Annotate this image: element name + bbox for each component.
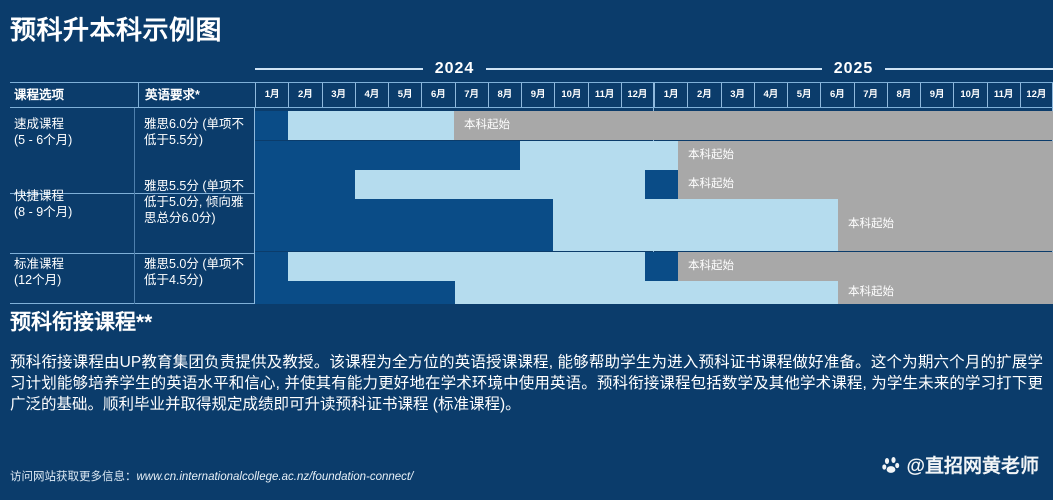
footnote-prefix: 访问网站获取更多信息： xyxy=(10,471,137,483)
row-label-course-3: 标准课程 (12个月) xyxy=(14,256,132,288)
gantt-segment-grey xyxy=(678,141,1053,170)
gantt-segment-dark xyxy=(255,170,355,199)
gantt-segment-dark xyxy=(645,170,678,199)
gantt-segment-light xyxy=(553,199,838,251)
gantt-segment-light xyxy=(520,141,678,170)
gantt-segment-dark xyxy=(255,199,553,251)
timeline-table: 课程选项 英语要求* 1月2月3月4月5月6月7月8月9月10月11月12月1月… xyxy=(10,82,1053,304)
page-title: 预科升本科示例图 xyxy=(10,10,222,47)
baidu-paw-icon xyxy=(882,455,902,475)
gantt-segment-label: 本科起始 xyxy=(464,120,510,132)
column-header-course: 课程选项 xyxy=(14,83,134,107)
gantt-segment-light xyxy=(288,252,645,281)
course-duration: (8 - 9个月) xyxy=(14,204,132,220)
section-paragraph: 预科衔接课程由UP教育集团负责提供及教授。该课程为全方位的英语授课课程, 能够帮… xyxy=(10,352,1043,415)
year-rule-left xyxy=(654,68,822,70)
year-group-2025: 2025 xyxy=(654,56,1053,82)
gantt-segment-dark xyxy=(255,281,455,304)
gantt-segment-dark xyxy=(255,141,520,170)
gantt-segment-grey xyxy=(454,111,1053,140)
footnote-url[interactable]: www.cn.internationalcollege.ac.nz/founda… xyxy=(137,471,414,483)
gantt-segment-label: 本科起始 xyxy=(848,287,894,299)
row-english-1: 雅思6.0分 (单项不低于5.5分) xyxy=(144,116,250,148)
row-label-course-2: 快捷课程 (8 - 9个月) xyxy=(14,188,132,220)
column-header-english: 英语要求* xyxy=(138,83,254,107)
year-group-2024: 2024 xyxy=(255,56,654,82)
year-band: 2024 2025 xyxy=(255,56,1053,82)
course-name: 标准课程 xyxy=(14,256,132,272)
gantt-segment-label: 本科起始 xyxy=(848,219,894,231)
year-label-2024: 2024 xyxy=(423,60,487,78)
year-rule-right xyxy=(486,68,654,70)
row-english-2: 雅思5.5分 (单项不低于5.0分, 倾向雅思总分6.0分) xyxy=(144,178,250,226)
course-duration: (12个月) xyxy=(14,272,132,288)
gantt-segment-light xyxy=(455,281,838,304)
gantt-segment-dark xyxy=(255,111,288,140)
course-name: 快捷课程 xyxy=(14,188,132,204)
gantt-segment-label: 本科起始 xyxy=(688,179,734,191)
row-label-course-1: 速成课程 (5 - 6个月) xyxy=(14,116,132,148)
gantt-segment-light xyxy=(355,170,645,199)
watermark: @直招网黄老师 xyxy=(882,451,1039,478)
year-rule-right xyxy=(885,68,1053,70)
gantt-bars: 本科起始本科起始本科起始本科起始本科起始本科起始 xyxy=(255,82,1053,304)
year-label-2025: 2025 xyxy=(822,60,886,78)
gantt-segment-dark xyxy=(255,252,288,281)
gantt-segment-grey xyxy=(678,170,1053,199)
gantt-segment-label: 本科起始 xyxy=(688,261,734,273)
gantt-segment-light xyxy=(288,111,454,140)
handle-text: @直招网黄老师 xyxy=(906,451,1039,478)
gantt-segment-dark xyxy=(645,252,678,281)
footnote: 访问网站获取更多信息：www.cn.internationalcollege.a… xyxy=(10,468,413,484)
infographic-page: 预科升本科示例图 2024 2025 课程选项 英语要求* 1月2月3月4月5月… xyxy=(0,0,1053,500)
gantt-segment-grey xyxy=(678,252,1053,281)
year-rule-left xyxy=(255,68,423,70)
course-name: 速成课程 xyxy=(14,116,132,132)
col-divider-course xyxy=(134,108,135,304)
course-duration: (5 - 6个月) xyxy=(14,132,132,148)
row-english-3: 雅思5.0分 (单项不低于4.5分) xyxy=(144,256,250,288)
gantt-segment-label: 本科起始 xyxy=(688,150,734,162)
section-heading: 预科衔接课程** xyxy=(10,306,152,336)
